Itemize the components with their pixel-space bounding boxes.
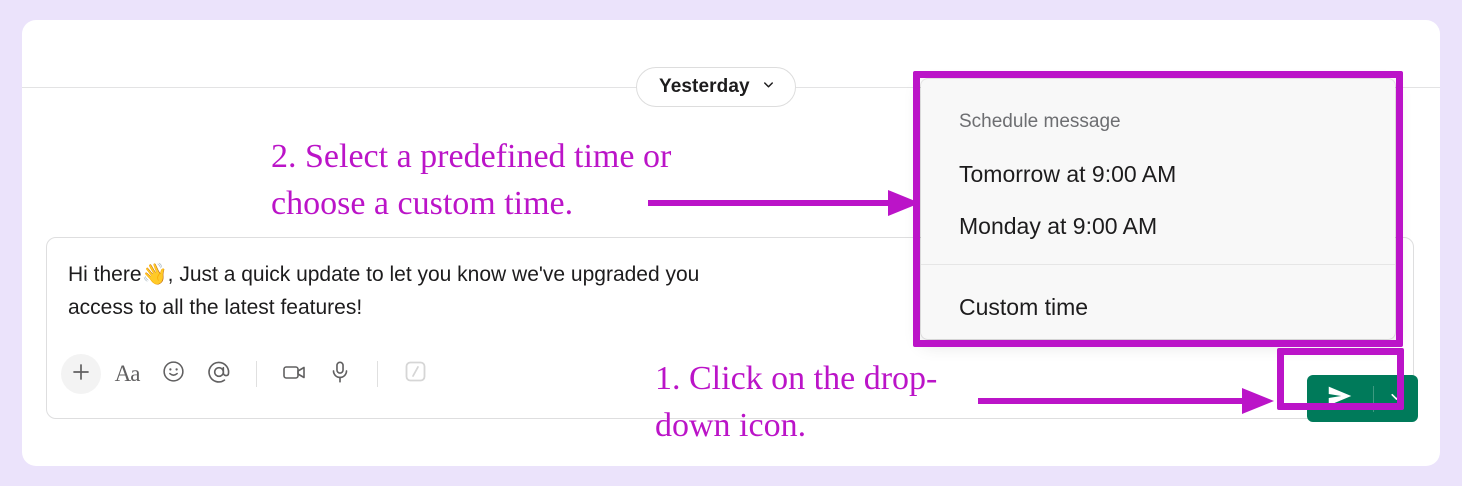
toolbar-divider (377, 361, 378, 387)
video-clip-button[interactable] (274, 354, 314, 394)
toolbar-divider (256, 361, 257, 387)
slash-command-icon (402, 358, 429, 390)
microphone-icon (327, 359, 353, 390)
menu-item-custom-time[interactable]: Custom time (921, 286, 1395, 328)
slash-command-button[interactable] (395, 354, 435, 394)
menu-item-monday[interactable]: Monday at 9:00 AM (921, 205, 1395, 247)
text-formatting-icon: Aa (115, 361, 140, 387)
audio-clip-button[interactable] (320, 354, 360, 394)
at-mention-icon (206, 359, 232, 390)
date-pill-label: Yesterday (659, 76, 750, 98)
schedule-menu-header: Schedule message (959, 111, 1121, 133)
smiley-icon (161, 359, 186, 389)
formatting-button[interactable]: Aa (107, 354, 147, 394)
emoji-button[interactable] (153, 354, 193, 394)
menu-divider (921, 264, 1395, 265)
add-attachment-button[interactable] (61, 354, 101, 394)
send-message-button[interactable] (1307, 375, 1373, 422)
mention-button[interactable] (199, 354, 239, 394)
chevron-down-icon (1388, 388, 1405, 410)
menu-item-tomorrow[interactable]: Tomorrow at 9:00 AM (921, 153, 1395, 195)
date-pill-button[interactable]: Yesterday (636, 67, 796, 107)
annotation-step-1-text: 1. Click on the drop- down icon. (655, 355, 1000, 449)
composer-toolbar: Aa (61, 354, 435, 394)
send-split-button[interactable] (1307, 375, 1418, 422)
chevron-down-icon (761, 77, 776, 97)
paper-plane-icon (1325, 381, 1355, 416)
annotation-arrow-right-icon (978, 386, 1274, 421)
schedule-message-menu[interactable]: Schedule message Tomorrow at 9:00 AM Mon… (921, 79, 1395, 339)
annotation-arrow-right-icon (648, 188, 920, 223)
plus-icon (69, 360, 93, 389)
video-camera-icon (280, 358, 308, 391)
send-options-dropdown-button[interactable] (1374, 375, 1418, 422)
